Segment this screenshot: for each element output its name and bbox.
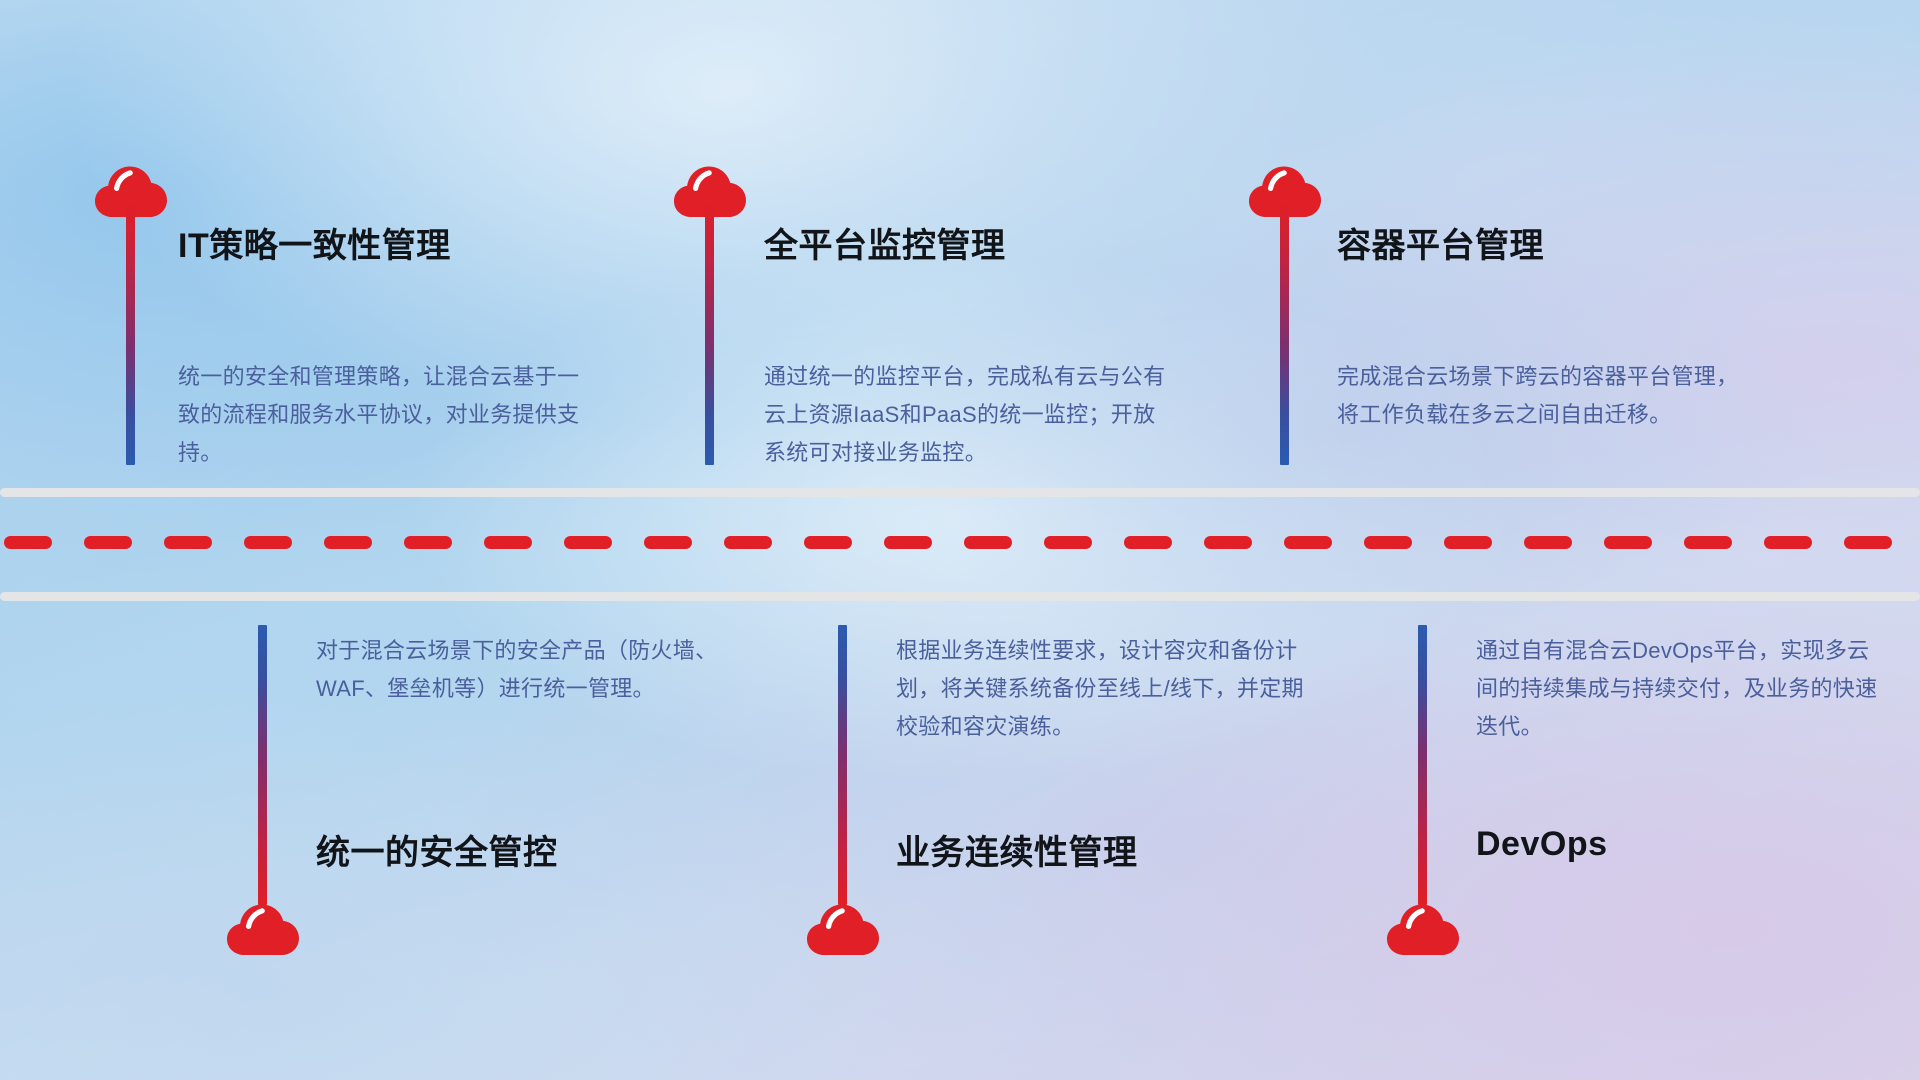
divider-dash — [1524, 536, 1572, 549]
divider-rule-bottom — [0, 592, 1920, 601]
divider-rule-top — [0, 488, 1920, 497]
divider-dash — [404, 536, 452, 549]
column-stem — [126, 205, 135, 465]
column-description: 通过自有混合云DevOps平台，实现多云间的持续集成与持续交付，及业务的快速迭代… — [1476, 632, 1888, 746]
column-title: 容器平台管理 — [1337, 218, 1544, 267]
center-divider — [0, 488, 1920, 608]
column-stem — [1280, 205, 1289, 465]
column-stem — [705, 205, 714, 465]
divider-dash — [1764, 536, 1812, 549]
column-stem — [1418, 625, 1427, 905]
divider-dash — [1044, 536, 1092, 549]
divider-dash — [4, 536, 52, 549]
divider-dash — [1444, 536, 1492, 549]
divider-dash — [324, 536, 372, 549]
divider-dash — [724, 536, 772, 549]
divider-dash — [964, 536, 1012, 549]
divider-dash — [644, 536, 692, 549]
column-title: IT策略一致性管理 — [178, 218, 451, 267]
cloud-icon — [806, 898, 880, 956]
divider-dash — [564, 536, 612, 549]
divider-dash — [1844, 536, 1892, 549]
infographic-canvas: IT策略一致性管理 统一的安全和管理策略，让混合云基于一致的流程和服务水平协议，… — [0, 0, 1920, 1080]
column-title: DevOps — [1476, 825, 1608, 864]
divider-dash — [1684, 536, 1732, 549]
divider-dash — [884, 536, 932, 549]
column-description: 通过统一的监控平台，完成私有云与公有云上资源IaaS和PaaS的统一监控；开放系… — [764, 358, 1176, 472]
cloud-icon — [226, 898, 300, 956]
divider-dash — [244, 536, 292, 549]
divider-dash — [164, 536, 212, 549]
column-title: 全平台监控管理 — [764, 218, 1006, 267]
divider-dash — [1284, 536, 1332, 549]
column-description: 统一的安全和管理策略，让混合云基于一致的流程和服务水平协议，对业务提供支持。 — [178, 358, 590, 472]
column-title: 统一的安全管控 — [316, 825, 558, 874]
column-stem — [838, 625, 847, 905]
column-description: 完成混合云场景下跨云的容器平台管理，将工作负载在多云之间自由迁移。 — [1337, 358, 1749, 434]
divider-dash — [1364, 536, 1412, 549]
divider-dash — [84, 536, 132, 549]
column-title: 业务连续性管理 — [896, 825, 1138, 874]
divider-dash — [1204, 536, 1252, 549]
column-stem — [258, 625, 267, 905]
divider-dashed-line — [0, 536, 1920, 549]
column-description: 对于混合云场景下的安全产品（防火墙、WAF、堡垒机等）进行统一管理。 — [316, 632, 728, 708]
cloud-icon — [1386, 898, 1460, 956]
column-description: 根据业务连续性要求，设计容灾和备份计划，将关键系统备份至线上/线下，并定期校验和… — [896, 632, 1308, 746]
divider-dash — [484, 536, 532, 549]
divider-dash — [1124, 536, 1172, 549]
divider-dash — [804, 536, 852, 549]
divider-dash — [1604, 536, 1652, 549]
